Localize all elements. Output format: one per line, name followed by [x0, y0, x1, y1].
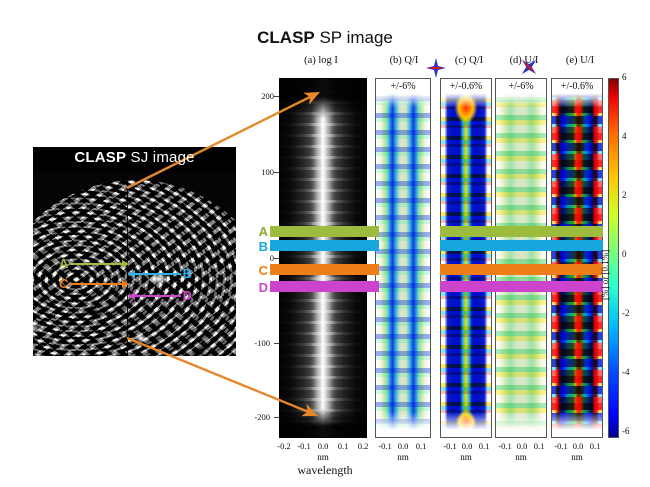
swatch-bar-d [270, 281, 379, 292]
panel-b-image [376, 79, 430, 437]
swatch-bar-b-right [440, 240, 603, 251]
colorbar-tick-neg2: -2 [622, 308, 638, 318]
swatch-label-c: C [256, 263, 268, 278]
sj-title-rest: SJ image [126, 149, 195, 166]
panel-a-image [280, 79, 366, 437]
sj-marker-d-arrowhead [128, 292, 135, 300]
sj-marker-b: B [128, 267, 194, 280]
colorbar-tick-neg4: -4 [622, 367, 638, 377]
sp-image-title: CLASP SP image [0, 28, 650, 48]
sj-marker-a: A [57, 257, 129, 270]
swatch-label-d: D [256, 280, 268, 295]
panel-e-image [552, 79, 602, 437]
y-tick-200: 200 [248, 91, 274, 101]
u-polarization-icon [519, 57, 539, 77]
panel-d-xunit: nm [501, 452, 541, 462]
panel-c-image [441, 79, 491, 437]
sj-marker-a-label: A [57, 257, 70, 270]
panel-e-xunit: nm [557, 452, 597, 462]
panel-e-plot: +/-0.6% [551, 78, 603, 438]
panel-b-plot: +/-6% [375, 78, 431, 438]
panel-a-xunit: nm [303, 452, 343, 462]
sj-marker-c-shaft [70, 283, 122, 285]
panel-b-caption-text: (b) Q/I [390, 55, 419, 66]
panel-b-caption: (b) Q/I [375, 55, 433, 66]
swatch-bar-d-right [440, 281, 603, 292]
panel-e-range-tag: +/-0.6% [552, 81, 602, 92]
sj-marker-c: C [57, 277, 129, 290]
y-tick-0: 0 [248, 253, 274, 263]
y-tickmark-neg100 [274, 343, 279, 344]
sp-title-bold: CLASP [257, 28, 315, 47]
panel-b-xunit: nm [383, 452, 423, 462]
panel-c-plot: +/-0.6% [440, 78, 492, 438]
sj-marker-c-label: C [57, 277, 70, 290]
panel-e-caption: (e) U/I [551, 55, 609, 66]
panel-a-caption-text: (a) log I [304, 55, 338, 66]
swatch-label-b: B [256, 239, 268, 254]
colorbar-axis-label: [%] or [0.1%] [600, 250, 610, 300]
panel-b-xtick-2: 0.1 [408, 441, 434, 451]
colorbar-tick-neg6: -6 [622, 426, 638, 436]
sj-marker-a-shaft [70, 263, 122, 265]
sj-marker-d: D [128, 289, 194, 302]
sj-marker-b-shaft [135, 273, 181, 275]
x-axis-label: wavelength [0, 463, 650, 478]
panel-a-caption: (a) log I [281, 55, 361, 66]
panel-c-range-tag: +/-0.6% [441, 81, 491, 92]
sj-title-bold: CLASP [74, 149, 126, 166]
panel-d-range-tag: +/-6% [496, 81, 546, 92]
panel-c-xunit: nm [446, 452, 486, 462]
panel-e-caption-text: (e) U/I [566, 55, 594, 66]
sj-marker-d-shaft [135, 295, 181, 297]
colorbar-tick-4: 4 [622, 131, 638, 141]
sj-solar-disk: A C B D [33, 173, 236, 356]
panel-c-caption: (c) Q/I [440, 55, 498, 66]
sj-image-title: CLASP SJ image [33, 149, 236, 166]
panel-d-image [496, 79, 546, 437]
sj-marker-c-arrowhead [122, 280, 129, 288]
sj-marker-d-label: D [181, 289, 194, 302]
y-tick-neg100: -100 [244, 338, 270, 348]
swatch-label-a: A [256, 224, 268, 239]
panel-b-range-tag: +/-6% [376, 81, 430, 92]
sj-marker-b-label: B [181, 267, 194, 280]
y-tick-neg200: -200 [244, 412, 270, 422]
sj-image-panel: CLASP SJ image A C B D [33, 147, 236, 356]
y-tick-100: 100 [248, 167, 274, 177]
swatch-bar-c-right [440, 264, 603, 275]
swatch-bar-a-right [440, 226, 603, 237]
y-tickmark-100 [274, 172, 279, 173]
sp-title-rest: SP image [315, 28, 393, 47]
colorbar-tick-0: 0 [622, 249, 638, 259]
y-tickmark-neg200 [274, 417, 279, 418]
swatch-bar-b [270, 240, 379, 251]
sj-marker-b-arrowhead [128, 270, 135, 278]
panel-e-xtick-2: 0.1 [582, 441, 608, 451]
swatch-bar-c [270, 264, 379, 275]
q-polarization-icon [426, 58, 446, 78]
colorbar-tick-6: 6 [622, 72, 638, 82]
y-tickmark-0 [274, 258, 279, 259]
panel-c-caption-text: (c) Q/I [455, 55, 483, 66]
swatch-bar-a [270, 226, 379, 237]
panel-d-plot: +/-6% [495, 78, 547, 438]
colorbar-tick-2: 2 [622, 190, 638, 200]
panel-a-plot [279, 78, 367, 438]
y-tickmark-200 [274, 96, 279, 97]
